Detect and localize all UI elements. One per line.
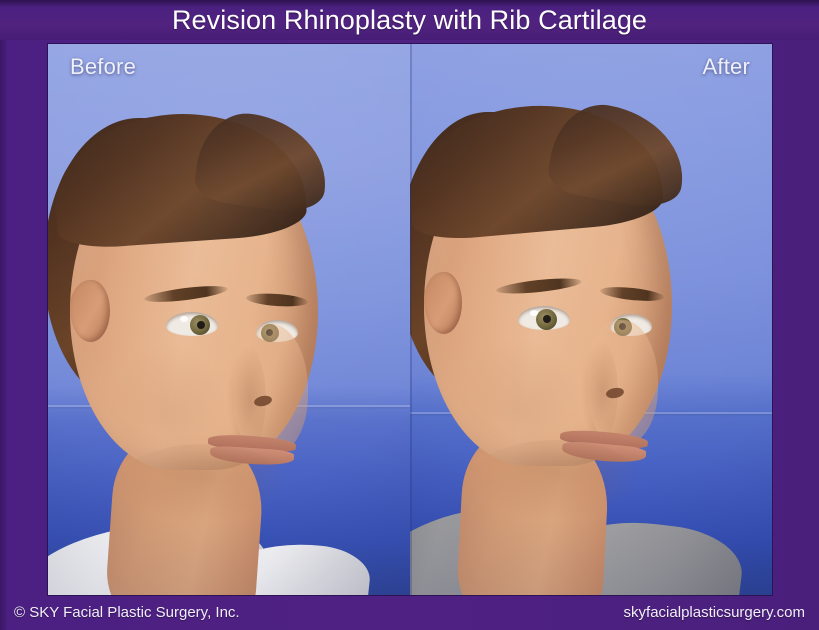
before-after-comparison: Before xyxy=(48,44,772,595)
before-label: Before xyxy=(70,54,136,80)
before-photo: Before xyxy=(48,44,410,595)
before-vignette xyxy=(48,44,410,595)
after-label: After xyxy=(703,54,750,80)
photo-divider xyxy=(410,44,412,595)
after-photo: After xyxy=(410,44,772,595)
copyright-text: © SKY Facial Plastic Surgery, Inc. xyxy=(14,604,240,621)
footer-bar: © SKY Facial Plastic Surgery, Inc. skyfa… xyxy=(0,595,819,630)
after-vignette xyxy=(410,44,772,595)
title-bar: Revision Rhinoplasty with Rib Cartilage xyxy=(0,0,819,40)
website-url[interactable]: skyfacialplasticsurgery.com xyxy=(624,604,805,621)
page-title: Revision Rhinoplasty with Rib Cartilage xyxy=(172,5,647,36)
